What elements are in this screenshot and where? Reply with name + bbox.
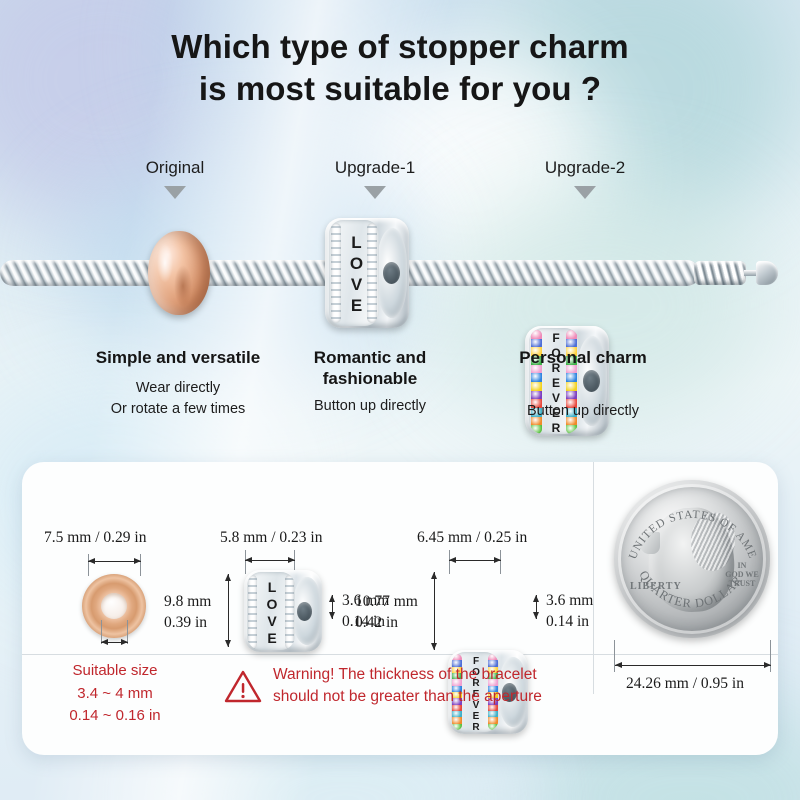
description-title-upgrade-2: Personal charm [458, 348, 708, 369]
clasp-spring [694, 261, 746, 285]
rainbow-stone [566, 425, 577, 434]
suitable-size-note: Suitable size 3.4 ~ 4 mm 0.14 ~ 0.16 in [30, 660, 200, 728]
rainbow-stone [566, 339, 577, 348]
title-line-1: Which type of stopper charm [171, 28, 628, 65]
love-charm-aperture [383, 262, 400, 284]
warning-triangle-svg [224, 670, 262, 703]
forever-height-in: 0.42 in [355, 613, 418, 634]
rainbow-stone [566, 330, 577, 339]
love-charm-face: LOVE [329, 220, 379, 326]
forever-hole-in: 0.14 in [546, 612, 593, 633]
love-charm-side-view: LOVE [244, 570, 322, 652]
bead-hole-arrow [101, 642, 128, 643]
love-sv-face: LOVE [247, 572, 295, 650]
card-divider-horizontal-right [593, 654, 778, 655]
forever-height-mm: 10.77 mm [355, 592, 418, 613]
option-label-upgrade-1: Upgrade-1 [285, 158, 465, 178]
option-label-original: Original [85, 158, 265, 178]
forever-hole-label: 3.6 mm 0.14 in [546, 591, 593, 633]
coin-legend-svg: UNITED STATES OF AMERICA QUARTER DOLLAR [614, 480, 770, 638]
love-engraving: LOVE [346, 220, 366, 326]
love-sv-cz-right [285, 575, 294, 649]
page-title: Which type of stopper charm is most suit… [0, 26, 800, 109]
caret-down-icon-original [164, 186, 186, 199]
caret-down-icon-upgrade-1 [364, 186, 386, 199]
title-line-2: is most suitable for you ? [199, 70, 601, 107]
forever-hole-arrow [536, 595, 537, 619]
forever-width-arrow [449, 560, 501, 561]
coin-top-legend: UNITED STATES OF AMERICA [614, 480, 758, 561]
bead-highlight [157, 243, 173, 283]
bead-width-label: 7.5 mm / 0.29 in [44, 528, 146, 549]
coin-width-label: 24.26 mm / 0.95 in [626, 674, 744, 695]
love-sv-engraving: LOVE [262, 572, 282, 650]
love-width-label: 5.8 mm / 0.23 in [220, 528, 322, 549]
bracelet-illustration: LOVE FOREVER [0, 252, 800, 294]
description-sub-upgrade-2: Button up directly [458, 401, 708, 422]
suitable-size-in: 0.14 ~ 0.16 in [30, 705, 200, 728]
coin-motto-line-3: TRUST [722, 580, 762, 589]
upgrade-1-title-line-2: fashionable [323, 369, 417, 388]
warning-block: Warning! The thickness of the bracelet s… [224, 664, 584, 707]
bead-shadow [174, 265, 192, 307]
option-label-upgrade-2: Upgrade-2 [495, 158, 675, 178]
original-sub-line-1: Wear directly [136, 380, 220, 396]
love-height-arrow [228, 574, 229, 647]
love-sv-cz-left [248, 575, 257, 649]
original-sub-line-2: Or rotate a few times [111, 401, 246, 417]
forever-height-arrow [434, 572, 435, 650]
rainbow-stone [531, 330, 542, 339]
cz-stone-row-left [331, 223, 341, 323]
love-height-label: 9.8 mm 0.39 in [164, 592, 211, 634]
forever-height-label: 10.77 mm 0.42 in [355, 592, 418, 634]
love-width-arrow [245, 560, 295, 561]
clasp-cap [756, 261, 778, 285]
card-divider-vertical [593, 462, 594, 694]
bead-width-arrow [88, 561, 141, 562]
forever-hole-mm: 3.6 mm [546, 591, 593, 612]
love-height-in: 0.39 in [164, 613, 211, 634]
charm-upgrade-1-love[interactable]: LOVE [325, 218, 409, 328]
bead-aperture [101, 593, 127, 619]
rainbow-stone [452, 724, 462, 730]
charm-original-rose-gold-bead[interactable] [148, 231, 210, 315]
love-hole-arrow [332, 595, 333, 619]
quarter-coin-illustration: UNITED STATES OF AMERICA QUARTER DOLLAR … [614, 480, 770, 638]
love-sv-aperture [297, 602, 312, 621]
suitable-size-mm: 3.4 ~ 4 mm [30, 683, 200, 706]
description-upgrade-2: Personal charm Button up directly [458, 348, 708, 422]
coin-motto-text: IN GOD WE TRUST [722, 562, 762, 588]
warning-triangle-icon [224, 670, 260, 701]
coin-width-arrow [615, 665, 771, 666]
coin-liberty-text: LIBERTY [630, 581, 682, 592]
forever-width-label: 6.45 mm / 0.25 in [417, 528, 527, 549]
cz-stone-row-right [367, 223, 377, 323]
specification-card: 7.5 mm / 0.29 in Suitable size 3.4 ~ 4 m… [22, 462, 778, 755]
suitable-size-title: Suitable size [30, 660, 200, 683]
rainbow-stone [531, 425, 542, 434]
hero-heading: Which type of stopper charm is most suit… [0, 26, 800, 109]
caret-down-icon-upgrade-2 [574, 186, 596, 199]
upgrade-1-title-line-1: Romantic and [314, 348, 426, 367]
love-height-mm: 9.8 mm [164, 592, 211, 613]
bead-front-view [82, 574, 146, 638]
warning-line-1: Warning! The thickness of the bracelet [273, 664, 542, 686]
rainbow-stone [531, 339, 542, 348]
warning-text: Warning! The thickness of the bracelet s… [273, 664, 542, 707]
warning-line-2: should not be greater than the aperture [273, 686, 542, 708]
